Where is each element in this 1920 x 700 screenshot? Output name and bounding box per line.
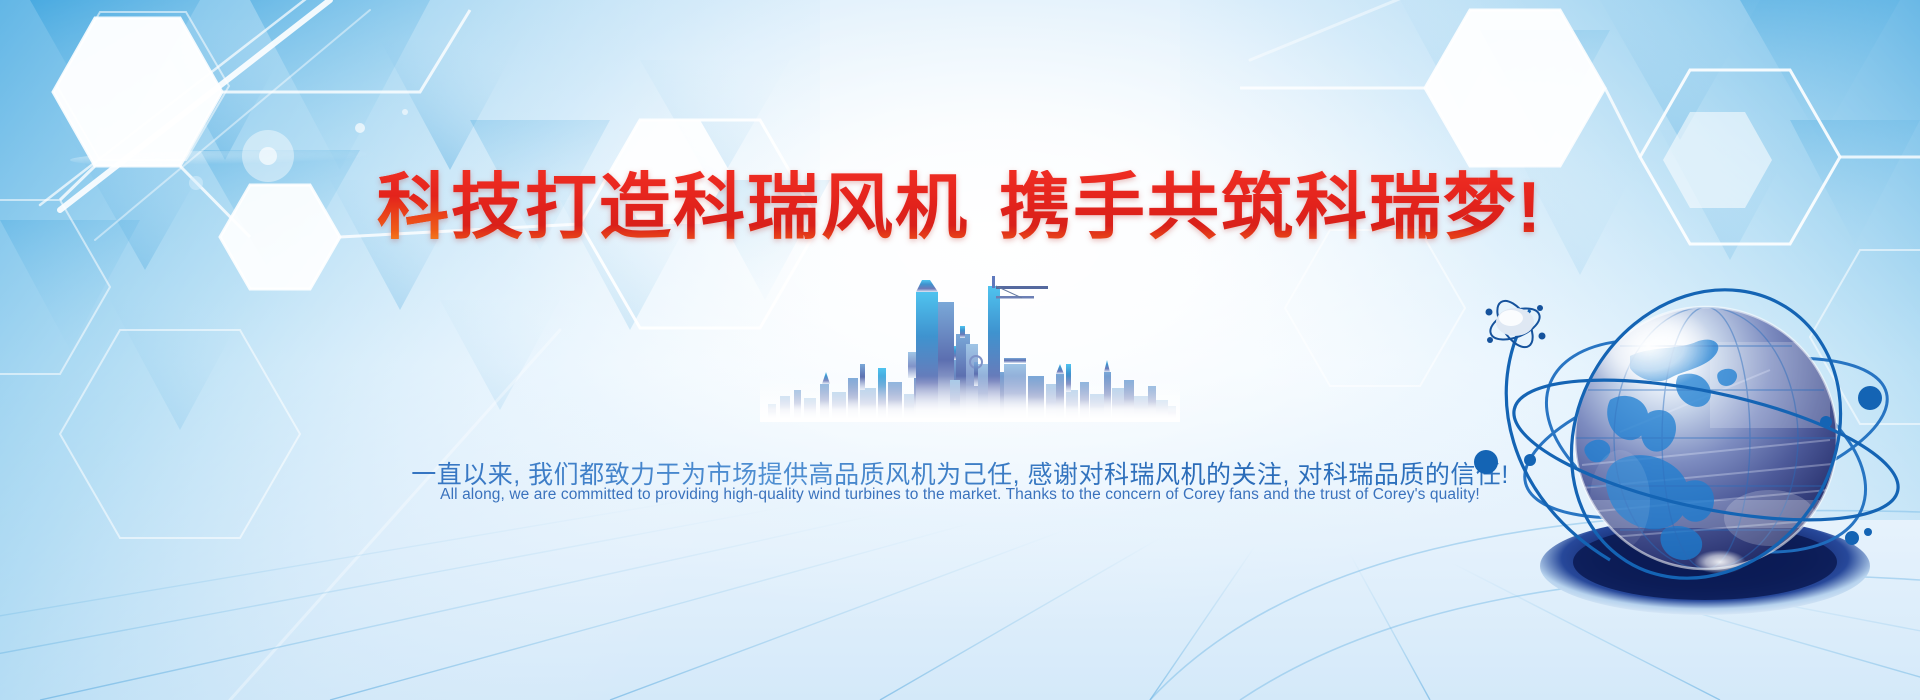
headline-part2: 携手共筑科瑞梦! (999, 168, 1543, 248)
headline-part1: 技打造科瑞风机 (451, 168, 969, 248)
glass-globe-icon (1470, 250, 1920, 700)
page-title: 科技打造科瑞风机携手共筑科瑞梦! (0, 170, 1920, 246)
promo-banner: 科技打造科瑞风机携手共筑科瑞梦! 一直以来, 我们都致力于为市场提供高品质风机为… (0, 0, 1920, 700)
headline-accent-char: 科 (377, 168, 451, 248)
atom-icon (1486, 295, 1546, 353)
city-skyline-icon (760, 272, 1180, 422)
